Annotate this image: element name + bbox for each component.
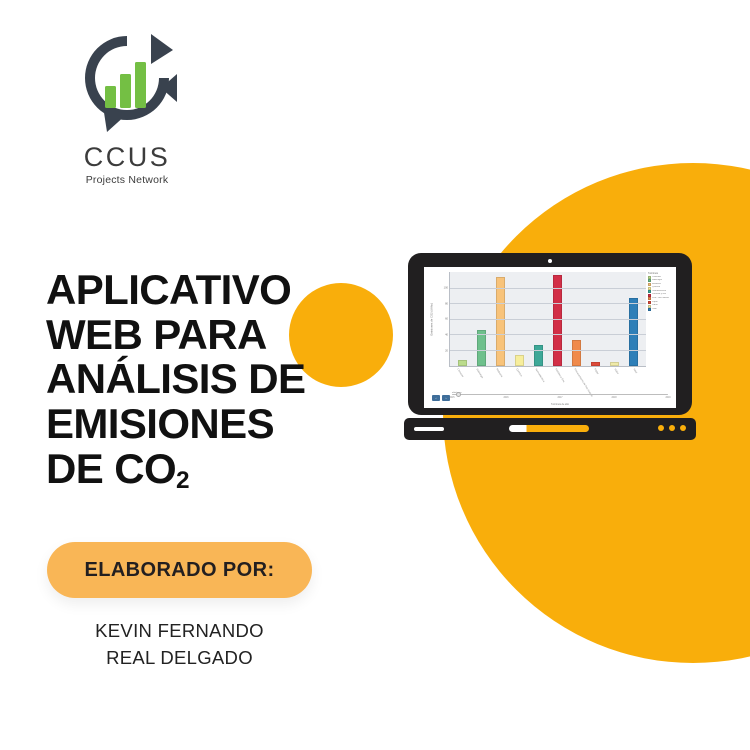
title-line-2: WEB PARA [46,311,267,358]
legend-swatch [648,290,651,293]
legend-swatch [648,308,651,311]
legend-swatch [648,305,651,308]
laptop-indicator-dot [658,425,664,431]
legend-swatch [648,283,651,286]
chart-bar[interactable] [591,362,600,366]
slider-tick: 2015 [449,397,454,399]
laptop-indicator-dot [669,425,675,431]
chart-x-tick: Termoeléctrica [535,368,546,383]
legend-swatch [648,301,651,304]
title-line-3: ANÁLISIS DE [46,355,305,402]
chart-bar[interactable] [572,340,581,366]
chart-x-tick: Siderurgia [476,368,484,379]
chart-gridline [450,303,646,304]
chart-bar[interactable] [534,345,543,365]
title-line-5: DE CO [46,445,176,492]
legend-swatch [648,294,651,297]
brand-wordmark: CCUS [52,142,202,173]
legend-label: Total [652,308,657,312]
chart-gridline [450,288,646,289]
laptop-base-notch [414,427,444,431]
chart-x-tick: Total [633,368,638,374]
ccus-logo-icon [73,28,181,140]
title-line-1: APLICATIVO [46,266,291,313]
legend-swatch [648,276,651,279]
chart-bar[interactable] [610,362,619,365]
laptop-mockup: Emisiones de CO2 (t/Año) 20406080100 Tér… [404,253,696,448]
laptop-screen: Emisiones de CO2 (t/Año) 20406080100 Tér… [424,267,676,408]
slider-tick: 2016 [503,397,508,399]
chart-x-tick: Vidrio [613,368,619,375]
chart-gridline [450,350,646,351]
brand-logo-block: CCUS Projects Network [52,28,202,186]
chart-legend: Términos CementoSiderurgiaRefineríaQuími… [646,272,672,367]
chart-x-tick: Papel [593,368,599,375]
laptop-trackpad-bar [509,425,589,432]
chart-x-tick: Cemento [456,368,464,378]
chart-y-axis-ticks: 20406080100 [436,272,449,367]
legend-swatch [648,287,651,290]
author-line-2: REAL DELGADO [47,645,312,672]
slider-tick: 2018 [611,397,616,399]
emissions-bar-chart: Emisiones de CO2 (t/Año) 20406080100 Tér… [424,267,676,408]
slider-prev-button[interactable]: ‹ [432,395,440,401]
chart-plot-area [449,272,646,367]
chart-y-tick: 40 [445,334,448,337]
chart-x-tick: Refinería [495,368,503,378]
chart-bar[interactable] [515,355,524,366]
elaborado-por-button[interactable]: ELABORADO POR: [47,542,312,598]
brand-tagline: Projects Network [52,174,202,186]
legend-swatch [648,279,651,282]
chart-y-tick: 20 [445,349,448,352]
chart-legend-item[interactable]: Total [648,308,672,312]
legend-swatch [648,297,651,300]
chart-y-tick: 100 [444,286,448,289]
author-name: KEVIN FERNANDO REAL DELGADO [47,618,312,672]
chart-gridline [450,334,646,335]
title-line-4: EMISIONES [46,400,274,447]
co2-subscript: 2 [176,467,189,494]
laptop-lid: Emisiones de CO2 (t/Año) 20406080100 Tér… [408,253,692,415]
chart-bar[interactable] [458,360,467,365]
slider-tick: 2017 [557,397,562,399]
slider-axis-title: Términos de año [452,403,668,406]
slider-tick: 2019 [665,397,670,399]
year-slider-row[interactable]: ‹ › año/years 20152016201720182019 Térmi… [432,390,668,407]
chart-legend-rows: CementoSiderurgiaRefineríaQuímicaTermoel… [648,276,672,312]
chart-x-axis-labels: CementoSiderurgiaRefineríaQuímicaTermoel… [449,367,645,389]
laptop-indicator-dots [658,425,686,431]
laptop-indicator-dot [680,425,686,431]
chart-bar[interactable] [496,277,505,365]
slider-tick-labels: 20152016201720182019 [452,397,668,403]
page-title: APLICATIVO WEB PARA ANÁLISIS DE EMISIONE… [46,268,376,492]
laptop-base [404,418,696,440]
chart-bar[interactable] [553,275,562,365]
webcam-icon [548,259,552,263]
chart-x-tick: Química [515,368,522,377]
chart-y-tick: 80 [445,302,448,305]
chart-gridline [450,319,646,320]
author-line-1: KEVIN FERNANDO [47,618,312,645]
chart-bar[interactable] [629,298,638,366]
chart-y-axis-label: Emisiones de CO2 (t/Año) [428,272,436,367]
chart-y-tick: 60 [445,318,448,321]
slider-track[interactable] [452,394,668,395]
year-slider[interactable]: año/years 20152016201720182019 Términos … [452,390,668,407]
chart-x-tick: Petróleo y Gas [554,368,565,383]
